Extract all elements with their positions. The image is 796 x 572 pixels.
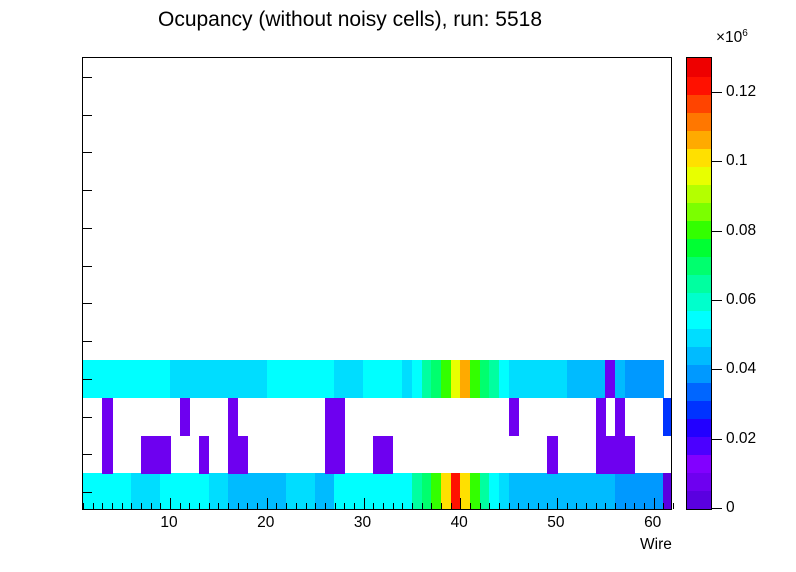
x-tick-minor — [499, 503, 500, 509]
colorbar-segment — [687, 419, 711, 438]
y-tick — [83, 266, 92, 267]
x-tick-minor — [470, 503, 471, 509]
y-tick — [83, 228, 92, 229]
x-tick-minor — [238, 503, 239, 509]
x-tick-minor — [373, 503, 374, 509]
x-tick-minor — [189, 503, 190, 509]
x-tick-minor — [325, 503, 326, 509]
colorbar-tick — [712, 369, 722, 370]
x-tick-label: 60 — [644, 514, 661, 532]
x-tick-minor — [615, 503, 616, 509]
x-tick-minor — [335, 503, 336, 509]
x-tick-minor — [489, 503, 490, 509]
x-tick-minor — [634, 503, 635, 509]
colorbar-segment — [687, 58, 711, 77]
colorbar-exponent: ×106 — [716, 28, 748, 47]
colorbar-segment — [687, 94, 711, 113]
y-tick — [83, 152, 92, 153]
colorbar-segment — [687, 274, 711, 293]
colorbar-tick-label: 0.1 — [726, 152, 748, 170]
x-tick-minor — [83, 503, 84, 509]
colorbar-segment — [687, 238, 711, 257]
y-tick — [83, 303, 92, 304]
x-tick-minor — [625, 503, 626, 509]
colorbar-segment — [687, 455, 711, 474]
x-tick-minor — [306, 503, 307, 509]
x-tick-minor — [276, 503, 277, 509]
y-tick — [83, 115, 92, 116]
colorbar-tick-label: 0.06 — [726, 291, 756, 309]
colorbar-tick — [712, 300, 722, 301]
heatmap-cell — [615, 398, 625, 436]
y-tick — [83, 454, 92, 455]
colorbar-tick — [712, 439, 722, 440]
heatmap-cell — [238, 436, 248, 474]
x-tick-minor — [354, 503, 355, 509]
y-tick — [83, 492, 92, 493]
x-tick-minor — [576, 503, 577, 509]
heatmap-cell — [547, 436, 557, 474]
colorbar-segment — [687, 365, 711, 384]
x-tick-minor — [518, 503, 519, 509]
colorbar-segment — [687, 311, 711, 330]
colorbar-segment — [687, 491, 711, 510]
x-tick-minor — [344, 503, 345, 509]
x-tick-minor — [199, 503, 200, 509]
y-tick — [83, 341, 92, 342]
x-tick-major — [557, 498, 558, 509]
colorbar-tick — [712, 508, 722, 509]
x-tick-major — [364, 498, 365, 509]
x-tick-minor — [547, 503, 548, 509]
x-tick-minor — [441, 503, 442, 509]
colorbar-segment — [687, 112, 711, 131]
plot-canvas: Ocupancy (without noisy cells), run: 551… — [0, 0, 796, 572]
x-tick-label: 50 — [547, 514, 564, 532]
colorbar-segment — [687, 401, 711, 420]
x-tick-minor — [509, 503, 510, 509]
colorbar-tick — [712, 231, 722, 232]
heatmap-cell — [334, 436, 344, 474]
colorbar-exponent-base: ×10 — [716, 29, 742, 46]
heatmap-cell — [625, 436, 635, 474]
colorbar-segment — [687, 184, 711, 203]
heatmap-cell — [509, 398, 519, 436]
colorbar-segment — [687, 148, 711, 167]
x-tick-minor — [218, 503, 219, 509]
colorbar-tick-label: 0.04 — [726, 360, 756, 378]
x-tick-minor — [663, 503, 664, 509]
x-tick-minor — [393, 503, 394, 509]
x-tick-minor — [480, 503, 481, 509]
colorbar-tick-label: 0.02 — [726, 430, 756, 448]
colorbar-tick-label: 0.12 — [726, 83, 756, 101]
heatmap-cell — [102, 398, 112, 436]
colorbar-tick — [712, 92, 722, 93]
y-tick — [83, 379, 92, 380]
colorbar-segment — [687, 347, 711, 366]
colorbar-segment — [687, 202, 711, 221]
x-tick-minor — [93, 503, 94, 509]
heatmap-cell — [102, 436, 112, 474]
colorbar-segment — [687, 329, 711, 348]
y-tick — [83, 77, 92, 78]
heatmap-cell — [663, 398, 671, 436]
x-tick-major — [170, 498, 171, 509]
plot-frame: SL3L4SL3L3SL3L2SL3L1SL2L4SL2L3SL2L2SL2L1… — [82, 57, 672, 510]
x-tick-minor — [296, 503, 297, 509]
x-tick-minor — [160, 503, 161, 509]
x-tick-minor — [586, 503, 587, 509]
x-tick-label: 20 — [257, 514, 274, 532]
colorbar-exponent-power: 6 — [742, 28, 748, 39]
colorbar-segment — [687, 473, 711, 492]
heatmap-cell — [596, 398, 606, 436]
heatmap-cell — [199, 436, 209, 474]
heatmap-cell — [663, 473, 671, 509]
heatmap-cell — [228, 398, 238, 436]
x-tick-label: 40 — [451, 514, 468, 532]
x-tick-minor — [247, 503, 248, 509]
y-tick — [83, 417, 92, 418]
colorbar-segment — [687, 293, 711, 312]
x-tick-minor — [528, 503, 529, 509]
x-tick-label: 30 — [354, 514, 371, 532]
colorbar-segment — [687, 76, 711, 95]
heatmap-cell — [180, 398, 190, 436]
x-tick-minor — [257, 503, 258, 509]
x-tick-minor — [412, 503, 413, 509]
x-tick-minor — [122, 503, 123, 509]
heatmap-cell — [334, 398, 344, 436]
colorbar — [686, 57, 712, 510]
x-tick-minor — [673, 503, 674, 509]
x-tick-minor — [131, 503, 132, 509]
x-tick-minor — [567, 503, 568, 509]
x-tick-minor — [431, 503, 432, 509]
x-tick-major — [654, 498, 655, 509]
heatmap-cell — [654, 360, 664, 398]
x-tick-minor — [228, 503, 229, 509]
x-tick-minor — [402, 503, 403, 509]
x-tick-minor — [180, 503, 181, 509]
x-tick-label: 10 — [160, 514, 177, 532]
x-tick-major — [460, 498, 461, 509]
x-tick-minor — [112, 503, 113, 509]
page-title: Ocupancy (without noisy cells), run: 551… — [0, 8, 700, 32]
x-tick-minor — [383, 503, 384, 509]
colorbar-segment — [687, 220, 711, 239]
heatmap-area — [83, 58, 671, 509]
colorbar-segment — [687, 130, 711, 149]
x-tick-major — [267, 498, 268, 509]
colorbar-tick-label: 0.08 — [726, 222, 756, 240]
x-tick-minor — [422, 503, 423, 509]
colorbar-segment — [687, 166, 711, 185]
x-tick-minor — [286, 503, 287, 509]
x-tick-minor — [538, 503, 539, 509]
colorbar-segment — [687, 437, 711, 456]
colorbar-tick — [712, 161, 722, 162]
y-tick — [83, 190, 92, 191]
x-tick-minor — [151, 503, 152, 509]
colorbar-segment — [687, 256, 711, 275]
x-axis-title: Wire — [640, 536, 672, 554]
x-tick-minor — [315, 503, 316, 509]
colorbar-segment — [687, 383, 711, 402]
x-tick-minor — [644, 503, 645, 509]
x-tick-minor — [596, 503, 597, 509]
x-tick-minor — [102, 503, 103, 509]
colorbar-tick-label: 0 — [726, 499, 735, 517]
heatmap-cell — [383, 436, 393, 474]
x-tick-minor — [605, 503, 606, 509]
x-tick-minor — [209, 503, 210, 509]
x-tick-minor — [141, 503, 142, 509]
x-tick-minor — [451, 503, 452, 509]
heatmap-cell — [160, 436, 170, 474]
